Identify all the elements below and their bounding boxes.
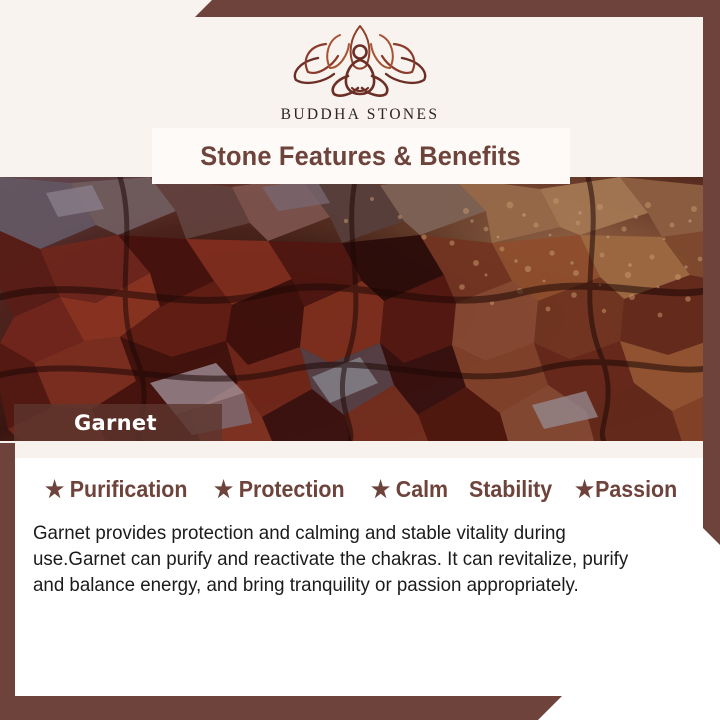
page-title: Stone Features & Benefits	[201, 141, 522, 172]
stone-description: Garnet provides protection and calming a…	[33, 520, 662, 598]
stone-name: Garnet	[14, 411, 157, 435]
benefits-list: ★ Purification ★ Protection ★ Calm ★ Sta…	[45, 476, 685, 503]
photo-underline-strip	[0, 441, 720, 458]
title-panel: Stone Features & Benefits	[152, 128, 570, 184]
stone-features-infographic: BUDDHA STONES Stone Features & Benefits	[0, 0, 720, 720]
benefit-label: Stability	[469, 476, 552, 503]
content-panel: ★ Purification ★ Protection ★ Calm ★ Sta…	[0, 458, 720, 720]
lotus-meditation-icon	[286, 24, 434, 102]
frame-right-bar	[703, 0, 720, 545]
star-icon: ★	[45, 478, 64, 501]
stone-photo	[0, 177, 720, 441]
benefit-label: Passion	[595, 476, 677, 503]
frame-top-bar	[195, 0, 720, 17]
stone-name-banner: Garnet	[14, 404, 222, 441]
benefit-item: ★ Passion	[575, 476, 677, 503]
benefit-label: Protection	[239, 476, 345, 503]
frame-bottom-bar	[0, 696, 562, 720]
benefit-label: Calm	[395, 476, 447, 503]
benefit-label: Purification	[70, 476, 188, 503]
benefit-item: ★ Calm	[371, 476, 448, 503]
star-icon: ★	[371, 478, 390, 501]
brand-block: BUDDHA STONES	[0, 24, 720, 124]
star-icon: ★	[214, 478, 233, 501]
star-icon: ★	[575, 478, 594, 501]
benefit-item: ★ Stability	[469, 476, 552, 503]
frame-left-bar	[0, 443, 15, 720]
benefit-item: ★ Protection	[214, 476, 345, 503]
benefit-item: ★ Purification	[45, 476, 187, 503]
brand-name: BUDDHA STONES	[0, 106, 720, 124]
